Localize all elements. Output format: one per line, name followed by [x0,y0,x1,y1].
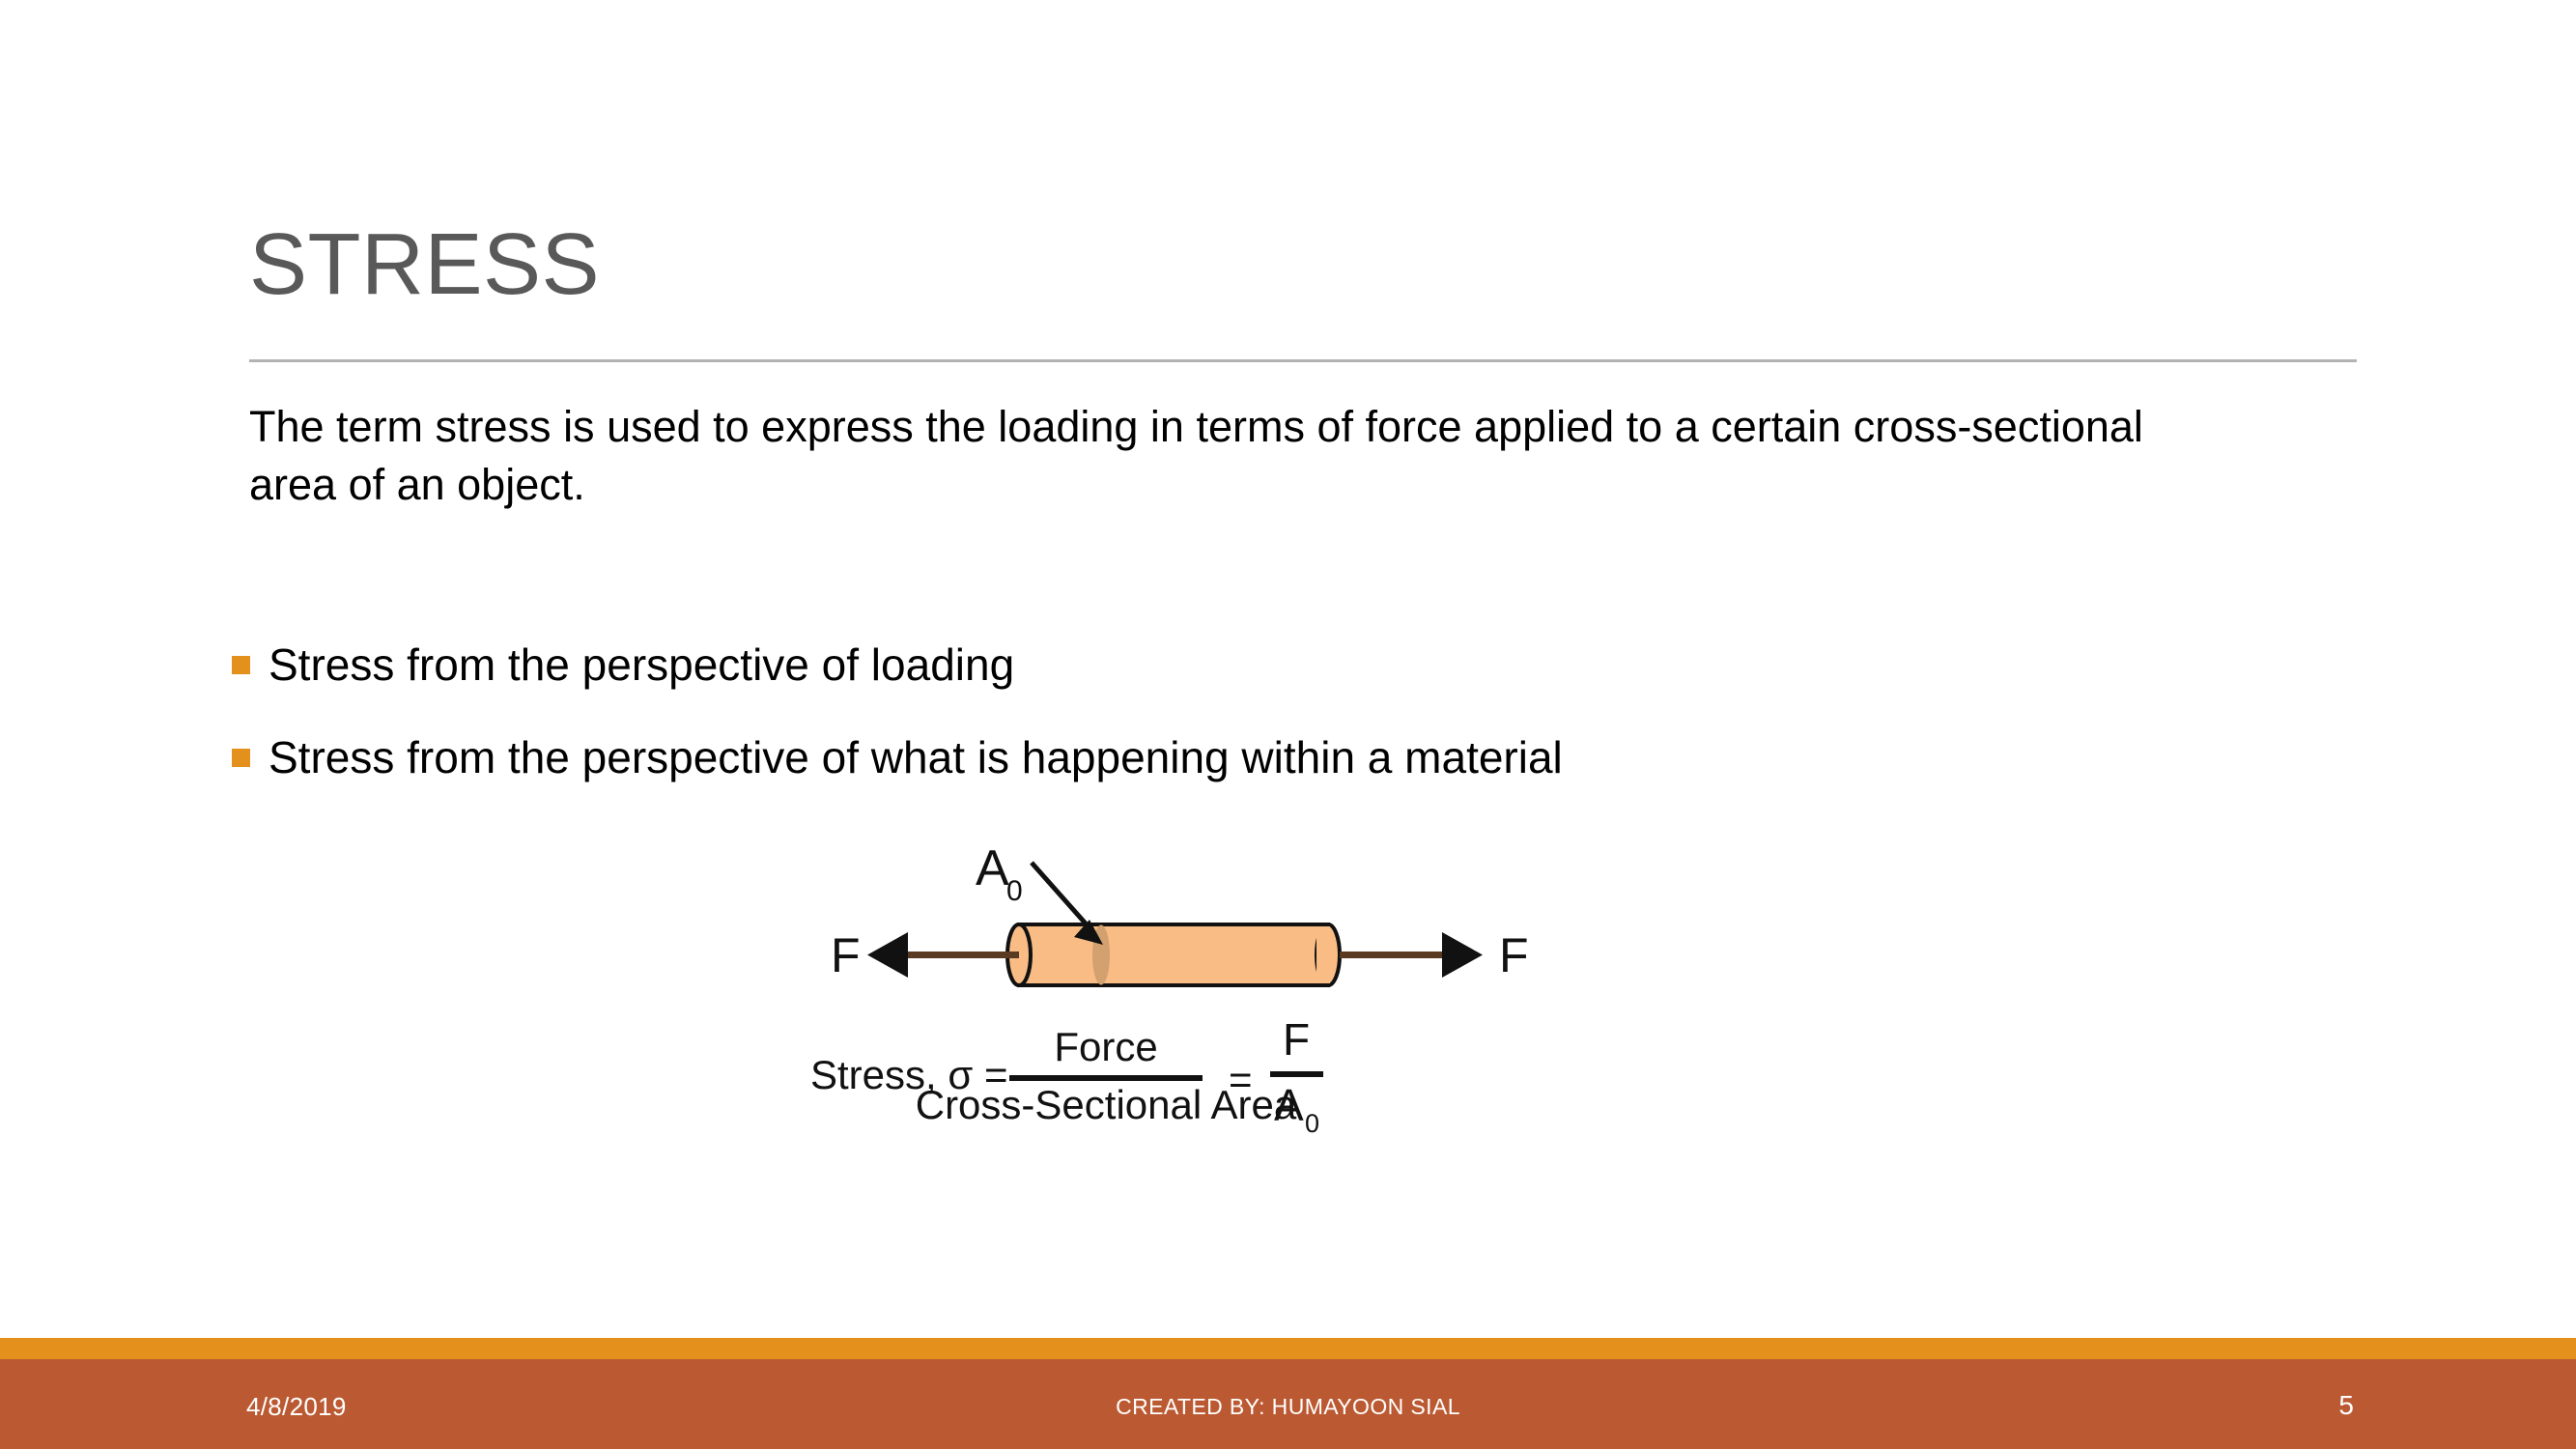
area-label-subscript: 0 [1006,875,1023,907]
list-item: Stress from the perspective of loading [232,638,2260,692]
cylinder-specimen [1007,924,1340,985]
list-item-label: Stress from the perspective of loading [269,638,1014,692]
title-divider [249,359,2357,362]
formula-equals: = [1229,1057,1253,1102]
force-label-left: F [831,928,861,982]
formula-rhs-denominator-subscript: 0 [1305,1109,1319,1138]
square-bullet-icon [232,749,250,767]
formula-rhs-numerator: F [1283,1014,1310,1065]
footer-credit: CREATED BY: HUMAYOON SIAL [0,1394,2576,1420]
footer-accent-strip [0,1338,2576,1359]
force-arrow-left [867,932,1019,978]
bullet-list: Stress from the perspective of loading S… [232,638,2260,823]
list-item-label: Stress from the perspective of what is h… [269,730,1563,784]
formula-numerator: Force [1054,1024,1157,1069]
stress-formula: Stress, σ = Force Cross-Sectional Area =… [811,1014,1323,1138]
force-label-right: F [1499,928,1529,982]
formula-rhs-denominator: A [1274,1080,1304,1130]
presentation-slide: STRESS The term stress is used to expres… [0,0,2576,1449]
page-title: STRESS [249,214,600,315]
force-arrow-right [1340,932,1483,978]
list-item: Stress from the perspective of what is h… [232,730,2260,784]
square-bullet-icon [232,656,250,674]
area-label: A [976,840,1009,896]
stress-diagram-figure: F F A 0 Stress, σ = Force Cross-Sectiona… [811,831,1739,1236]
footer-page-number: 5 [2338,1390,2354,1421]
body-paragraph: The term stress is used to express the l… [249,398,2239,514]
